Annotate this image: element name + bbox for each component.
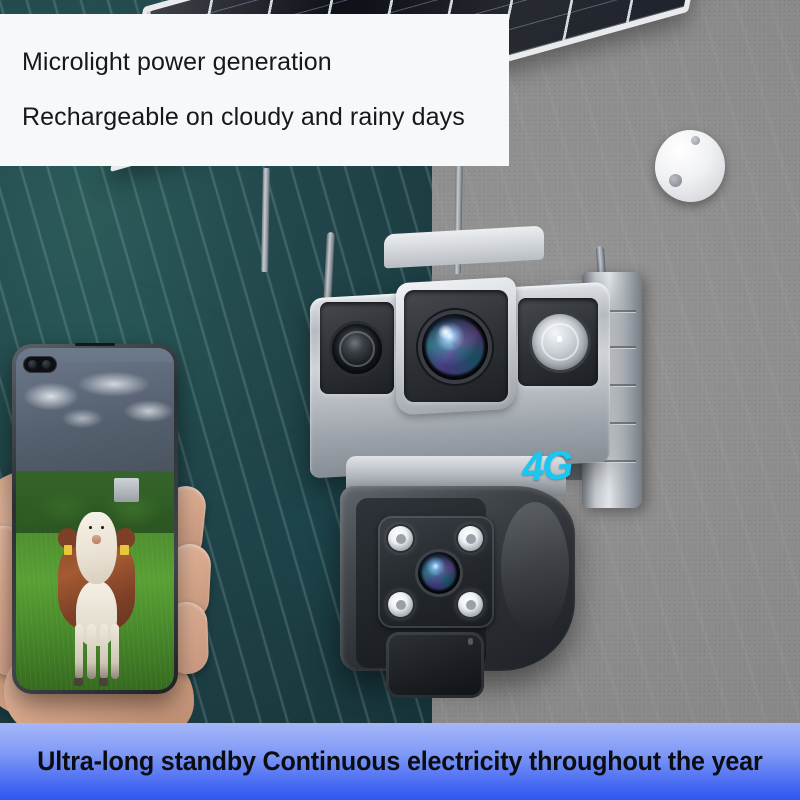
mountain-range bbox=[16, 362, 174, 485]
led-spotlight-icon bbox=[388, 592, 413, 617]
cow-muzzle bbox=[92, 535, 102, 544]
led-spotlight-icon bbox=[458, 592, 483, 617]
footer-tagline: Ultra-long standby Continuous electricit… bbox=[37, 746, 762, 777]
dome-highlight bbox=[501, 502, 569, 634]
footer-banner: Ultra-long standby Continuous electricit… bbox=[0, 723, 800, 800]
4g-badge: 4G bbox=[521, 438, 596, 498]
screw-icon bbox=[669, 174, 682, 187]
cow-ear-tag bbox=[120, 545, 128, 555]
cow-leg bbox=[111, 624, 119, 680]
ptz-dome bbox=[340, 486, 575, 671]
security-camera: 4G bbox=[300, 250, 660, 700]
sensor-dot-icon bbox=[468, 638, 473, 645]
camera-lens-icon bbox=[418, 552, 460, 594]
cow-leg bbox=[100, 624, 108, 680]
cow-eye bbox=[89, 526, 92, 529]
cow-hoof bbox=[99, 678, 108, 686]
led-spotlight-icon bbox=[458, 526, 483, 551]
camera-lens-icon bbox=[422, 314, 488, 380]
cow-head bbox=[76, 512, 116, 584]
phone-screen[interactable] bbox=[16, 348, 174, 690]
cow-eye bbox=[101, 526, 104, 529]
smartphone[interactable] bbox=[12, 344, 178, 694]
cow-leg bbox=[75, 624, 83, 680]
hand-holding-phone bbox=[0, 330, 248, 730]
screw-icon bbox=[691, 136, 700, 145]
cow-hoof bbox=[74, 678, 83, 686]
lens-glint bbox=[437, 325, 454, 340]
headline-line-1: Microlight power generation bbox=[22, 48, 509, 77]
barn bbox=[114, 478, 139, 502]
solar-panel-mount-hub bbox=[655, 130, 725, 202]
product-banner: 4G bbox=[0, 0, 800, 800]
center-lens-housing bbox=[404, 290, 508, 402]
dome-face bbox=[356, 498, 486, 668]
cow bbox=[51, 505, 143, 669]
led-spotlight-icon bbox=[388, 526, 413, 551]
headline-callout: Microlight power generation Rechargeable… bbox=[0, 14, 509, 166]
punch-hole-camera-icon bbox=[23, 356, 57, 373]
camera-lens-icon bbox=[532, 314, 588, 370]
headline-line-2: Rechargeable on cloudy and rainy days bbox=[22, 103, 509, 132]
left-lens-housing bbox=[320, 302, 394, 394]
camera-lens-icon bbox=[332, 324, 382, 374]
right-lens-housing bbox=[518, 298, 598, 386]
earpiece-speaker bbox=[75, 343, 115, 346]
cow-ear-tag bbox=[64, 545, 72, 555]
led-lens-panel bbox=[378, 516, 494, 628]
cow-leg bbox=[87, 624, 95, 680]
